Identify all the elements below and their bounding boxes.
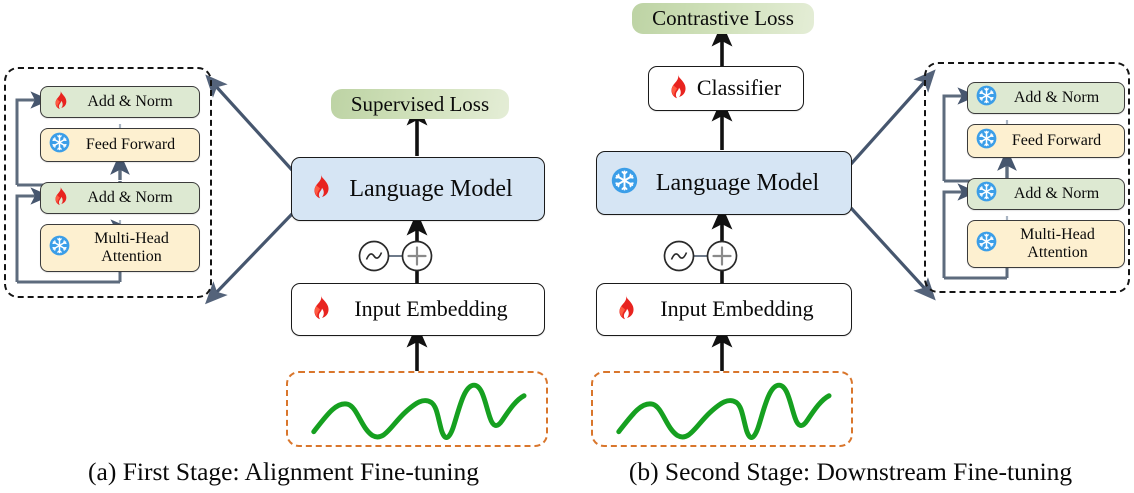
- panel-b-language-model-label: Language Model: [638, 170, 837, 197]
- panel-b-waveform: [593, 373, 851, 445]
- panel-a-waveform-container: [286, 371, 548, 447]
- figure-root: Add & Norm Feed Forward Add & Norm Multi…: [0, 0, 1134, 493]
- panel-a-multi-head-attention[interactable]: Multi-Head Attention: [40, 224, 200, 272]
- panel-a-input-embedding-label: Input Embedding: [332, 297, 530, 322]
- panel-b-add-norm-bottom[interactable]: Add & Norm: [967, 178, 1125, 210]
- panel-b-feed-forward[interactable]: Feed Forward: [967, 124, 1125, 158]
- panel-b-add-norm-top[interactable]: Add & Norm: [967, 82, 1125, 114]
- snowflake-icon: [49, 235, 70, 261]
- panel-a-input-embedding[interactable]: Input Embedding: [291, 283, 545, 336]
- fire-icon: [663, 72, 689, 106]
- panel-b-multi-head-attention[interactable]: Multi-Head Attention: [967, 220, 1125, 268]
- snowflake-icon: [611, 167, 638, 199]
- panel-a-add-norm-bottom-label: Add & Norm: [69, 189, 191, 207]
- snowflake-icon: [976, 128, 997, 154]
- panel-b-classifier[interactable]: Classifier: [648, 66, 804, 111]
- panel-a-add-norm-top[interactable]: Add & Norm: [40, 86, 200, 118]
- panel-b-multi-head-attention-label: Multi-Head Attention: [997, 226, 1116, 262]
- panel-a-waveform: [288, 373, 546, 445]
- panel-b-contrastive-loss-label: Contrastive Loss: [652, 6, 794, 31]
- panel-a-language-model[interactable]: Language Model: [291, 157, 545, 221]
- panel-a-caption: (a) First Stage: Alignment Fine-tuning: [0, 457, 567, 487]
- panel-a-feed-forward-label: Feed Forward: [70, 136, 191, 154]
- panel-a-multi-head-attention-label: Multi-Head Attention: [70, 230, 191, 266]
- sine-wave-icon: [360, 242, 389, 271]
- fire-icon: [306, 172, 332, 206]
- panel-a-supervised-loss-label: Supervised Loss: [351, 92, 489, 117]
- panel-b-classifier-label: Classifier: [689, 76, 789, 101]
- panel-a-add-norm-bottom[interactable]: Add & Norm: [40, 182, 200, 214]
- panel-a-add-norm-top-label: Add & Norm: [69, 93, 191, 111]
- fire-icon: [49, 89, 69, 116]
- panel-b-contrastive-loss: Contrastive Loss: [632, 3, 814, 34]
- panel-b-language-model[interactable]: Language Model: [596, 151, 852, 215]
- fire-icon: [49, 185, 69, 212]
- panel-a-caption-label: (a) First Stage: Alignment Fine-tuning: [88, 457, 479, 486]
- panel-a-feed-forward[interactable]: Feed Forward: [40, 128, 200, 162]
- fire-icon: [306, 293, 332, 327]
- sine-wave-icon: [665, 242, 694, 271]
- panel-b-add-norm-top-label: Add & Norm: [997, 89, 1116, 107]
- panel-b-feed-forward-label: Feed Forward: [997, 132, 1116, 150]
- snowflake-icon: [49, 132, 70, 158]
- panel-b-caption-label: (b) Second Stage: Downstream Fine-tuning: [629, 457, 1072, 486]
- fire-icon: [611, 293, 637, 327]
- panel-b-input-embedding[interactable]: Input Embedding: [596, 283, 852, 336]
- panel-b-waveform-container: [591, 371, 853, 447]
- plus-circle-icon: [403, 242, 432, 271]
- panel-b-input-embedding-label: Input Embedding: [637, 297, 837, 322]
- panel-b-caption: (b) Second Stage: Downstream Fine-tuning: [567, 457, 1134, 487]
- snowflake-icon: [976, 231, 997, 257]
- panel-b-add-norm-bottom-label: Add & Norm: [997, 185, 1116, 203]
- panel-a-language-model-label: Language Model: [332, 176, 530, 203]
- snowflake-icon: [976, 85, 997, 111]
- panel-a-supervised-loss: Supervised Loss: [331, 89, 509, 119]
- plus-circle-icon: [708, 242, 737, 271]
- snowflake-icon: [976, 181, 997, 207]
